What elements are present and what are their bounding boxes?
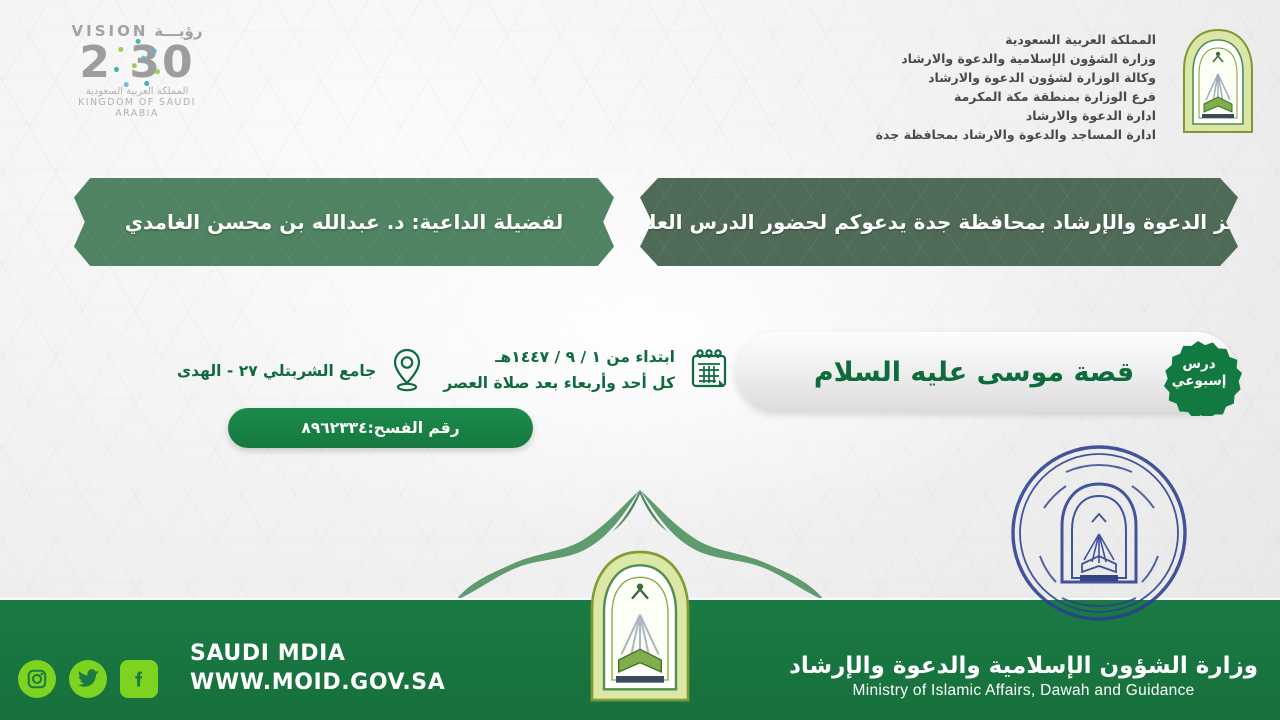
calendar-icon bbox=[688, 347, 730, 395]
date-detail: ابتداء من ١ / ٩ / ١٤٤٧هـ كل أحد وأربعاء … bbox=[443, 345, 730, 396]
official-stamp-icon bbox=[1004, 438, 1194, 628]
date-start-text: ابتداء من ١ / ٩ / ١٤٤٧هـ bbox=[443, 345, 675, 371]
schedule-text: كل أحد وأربعاء بعد صلاة العصر bbox=[443, 371, 675, 397]
ministry-header-lines: المملكة العربية السعودية وزارة الشؤون ال… bbox=[876, 26, 1156, 144]
brand-name-text: SAUDI MDIA bbox=[190, 639, 445, 669]
vision-2030-logo: VISION رؤيـــة 2 30 المملكة العربية السع… bbox=[62, 22, 212, 119]
ministry-line-4: فرع الوزارة بمنطقة مكة المكرمة bbox=[876, 87, 1156, 106]
event-details-row: ابتداء من ١ / ٩ / ١٤٤٧هـ كل أحد وأربعاء … bbox=[90, 336, 730, 406]
invitation-banner-text: مركز الدعوة والإرشاد بمحافظة جدة يدعوكم … bbox=[589, 210, 1280, 234]
vision-year: 2 30 bbox=[79, 42, 194, 84]
date-text-block: ابتداء من ١ / ٩ / ١٤٤٧هـ كل أحد وأربعاء … bbox=[443, 345, 675, 396]
ministry-line-2: وزارة الشؤون الإسلامية والدعوة والارشاد bbox=[876, 49, 1156, 68]
footer-ministry-ar: وزارة الشؤون الإسلامية والدعوة والإرشاد bbox=[789, 653, 1258, 679]
lesson-title-pill: قصة موسى عليه السلام bbox=[736, 332, 1236, 412]
ministry-line-6: ادارة المساجد والدعوة والارشاد بمحافظة ج… bbox=[876, 125, 1156, 144]
ministry-line-5: ادارة الدعوة والارشاد bbox=[876, 106, 1156, 125]
ministry-emblem-icon bbox=[1170, 26, 1266, 138]
ministry-header: المملكة العربية السعودية وزارة الشؤون ال… bbox=[876, 26, 1266, 144]
lesson-title-text: قصة موسى عليه السلام bbox=[814, 357, 1158, 388]
location-detail: جامع الشربتلي ٢٧ - الهدى bbox=[177, 346, 425, 396]
website-text[interactable]: WWW.MOID.GOV.SA bbox=[190, 668, 445, 698]
permit-number-text: رقم الفسح:٨٩٦٢٣٣٤ bbox=[301, 419, 459, 437]
badge-line-1: درس bbox=[1182, 356, 1215, 373]
ministry-line-3: وكالة الوزارة لشؤون الدعوة والارشاد bbox=[876, 68, 1156, 87]
invitation-banner: مركز الدعوة والإرشاد بمحافظة جدة يدعوكم … bbox=[640, 178, 1238, 266]
poster-canvas: VISION رؤيـــة 2 30 المملكة العربية السع… bbox=[0, 0, 1280, 720]
badge-line-2: إسبوعي bbox=[1172, 373, 1227, 390]
vision-kingdom-en: KINGDOM OF SAUDI ARABIA bbox=[62, 97, 212, 119]
vision-dots-icon bbox=[110, 36, 164, 90]
speaker-banner: لفضيلة الداعية: د. عبدالله بن محسن الغام… bbox=[74, 178, 614, 266]
speaker-banner-text: لفضيلة الداعية: د. عبدالله بن محسن الغام… bbox=[99, 210, 590, 234]
permit-number-pill: رقم الفسح:٨٩٦٢٣٣٤ bbox=[228, 408, 533, 448]
facebook-icon[interactable] bbox=[120, 660, 158, 698]
center-ministry-emblem-icon bbox=[576, 548, 704, 708]
footer-brand: SAUDI MDIA WWW.MOID.GOV.SA bbox=[190, 639, 445, 698]
footer-ministry-en: Ministry of Islamic Affairs, Dawah and G… bbox=[789, 682, 1258, 700]
location-text: جامع الشربتلي ٢٧ - الهدى bbox=[177, 362, 376, 380]
ministry-line-1: المملكة العربية السعودية bbox=[876, 30, 1156, 49]
footer-ministry: وزارة الشؤون الإسلامية والدعوة والإرشاد … bbox=[789, 653, 1258, 700]
social-links bbox=[18, 660, 158, 698]
twitter-icon[interactable] bbox=[69, 660, 107, 698]
instagram-icon[interactable] bbox=[18, 660, 56, 698]
map-pin-icon bbox=[389, 346, 425, 396]
